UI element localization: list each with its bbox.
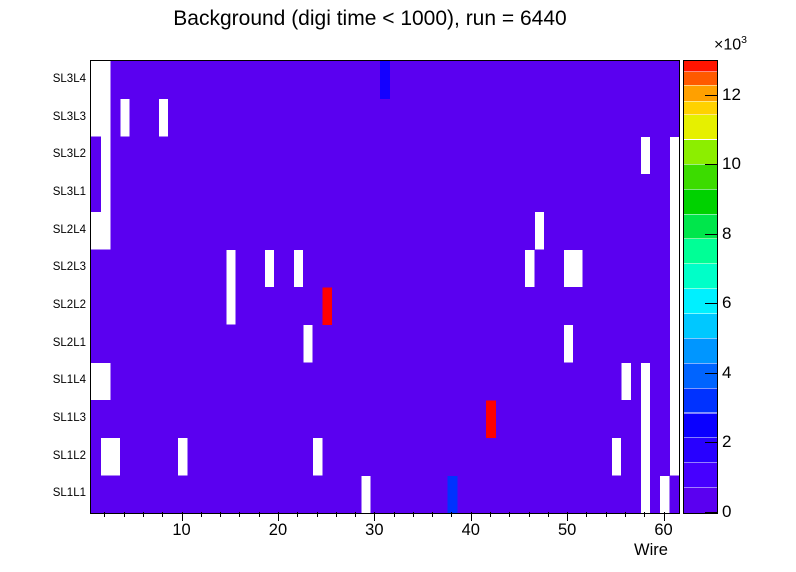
heatmap-cell (274, 212, 284, 250)
heatmap-cell (168, 249, 178, 287)
heatmap-cell (419, 249, 429, 287)
x-axis-minor-tick (201, 512, 202, 517)
heatmap-cell (640, 61, 650, 99)
heatmap-cell (284, 212, 294, 250)
heatmap-cell (650, 400, 660, 438)
heatmap-cell (467, 438, 477, 476)
heatmap-cell (390, 212, 400, 250)
palette-band (684, 239, 717, 263)
heatmap-cell (448, 287, 458, 325)
heatmap-cell (130, 362, 140, 400)
heatmap-cell (342, 174, 352, 212)
heatmap-cell (178, 174, 188, 212)
heatmap-cell (197, 362, 207, 400)
heatmap-cell (274, 99, 284, 137)
heatmap-cell (612, 249, 622, 287)
heatmap-cells[interactable] (91, 61, 679, 513)
heatmap-cell (631, 174, 641, 212)
heatmap-cell (245, 362, 255, 400)
heatmap-cell (650, 475, 660, 513)
heatmap-cell (390, 400, 400, 438)
heatmap-cell (197, 99, 207, 137)
heatmap-cell (448, 99, 458, 137)
heatmap-cell (110, 325, 120, 363)
heatmap-cell (496, 475, 506, 513)
heatmap-cell (602, 438, 612, 476)
heatmap-cell (602, 249, 612, 287)
heatmap-cell (187, 249, 197, 287)
x-axis-minor-tick (336, 512, 337, 517)
heatmap-cell (207, 99, 217, 137)
x-axis-tick (374, 512, 375, 521)
palette-band (684, 86, 717, 101)
heatmap-cell (168, 362, 178, 400)
heatmap-cell (486, 212, 496, 250)
heatmap-cell (650, 325, 660, 363)
y-axis-tick-label-sl1l1: SL1L1 (24, 487, 86, 499)
heatmap-cell (139, 438, 149, 476)
palette-band (684, 413, 717, 437)
heatmap-cell (371, 287, 381, 325)
heatmap-cell (660, 400, 670, 438)
palette-band (684, 264, 717, 288)
heatmap-cell (216, 287, 226, 325)
heatmap-cell (255, 325, 265, 363)
heatmap-cell (168, 475, 178, 513)
heatmap-cell (207, 174, 217, 212)
heatmap-cell (583, 61, 593, 99)
palette-tick (705, 164, 717, 165)
heatmap-cell (419, 174, 429, 212)
heatmap-cell (419, 61, 429, 99)
heatmap-cell (534, 99, 544, 137)
heatmap-cell (428, 325, 438, 363)
heatmap-cell (371, 475, 381, 513)
y-axis-tick-label-sl1l3: SL1L3 (24, 412, 86, 424)
heatmap-cell (583, 287, 593, 325)
heatmap-cell (457, 287, 467, 325)
x-axis-tick (567, 512, 568, 521)
heatmap-cell (573, 400, 583, 438)
heatmap-cell (534, 325, 544, 363)
heatmap-cell (255, 136, 265, 174)
heatmap-cell (409, 287, 419, 325)
heatmap-cell (650, 174, 660, 212)
heatmap-cell (265, 99, 275, 137)
heatmap-cell (207, 438, 217, 476)
heatmap-cell (149, 475, 159, 513)
heatmap-cell (120, 325, 130, 363)
heatmap-cell (669, 99, 679, 137)
heatmap-cell (592, 438, 602, 476)
heatmap-cell (631, 400, 641, 438)
heatmap-cell (592, 61, 602, 99)
heatmap-cell (438, 362, 448, 400)
x-axis-tick-label: 50 (558, 521, 576, 540)
heatmap-cell (216, 212, 226, 250)
heatmap-cell (342, 249, 352, 287)
heatmap-cell (448, 212, 458, 250)
heatmap-cell (207, 249, 217, 287)
heatmap-cell (158, 174, 168, 212)
heatmap-cell (583, 400, 593, 438)
heatmap-cell (399, 174, 409, 212)
heatmap-cell (245, 136, 255, 174)
heatmap-cell (322, 99, 332, 137)
heatmap-cell (602, 362, 612, 400)
heatmap-cell (544, 174, 554, 212)
heatmap-cell (592, 212, 602, 250)
heatmap-cell (380, 61, 390, 99)
heatmap-cell (438, 287, 448, 325)
heatmap-cell (428, 475, 438, 513)
heatmap-cell (505, 362, 515, 400)
heatmap-cell (284, 362, 294, 400)
heatmap-cell (139, 61, 149, 99)
heatmap-cell (515, 174, 525, 212)
heatmap-cell (477, 362, 487, 400)
heatmap-cell (457, 325, 467, 363)
heatmap-cell (390, 475, 400, 513)
heatmap-cell (419, 325, 429, 363)
palette-band (684, 388, 717, 412)
heatmap-cell (255, 249, 265, 287)
heatmap-cell (139, 475, 149, 513)
heatmap-cell (583, 475, 593, 513)
heatmap-cell (342, 325, 352, 363)
heatmap-cell (563, 362, 573, 400)
heatmap-cell (265, 174, 275, 212)
heatmap-cell (207, 287, 217, 325)
heatmap-cell (409, 400, 419, 438)
heatmap-cell (293, 61, 303, 99)
heatmap-cell (554, 212, 564, 250)
color-palette[interactable] (683, 60, 718, 514)
heatmap-cell (168, 61, 178, 99)
heatmap-cell (120, 362, 130, 400)
heatmap-cell (583, 362, 593, 400)
x-axis-minor-tick (355, 512, 356, 517)
heatmap-cell (303, 287, 313, 325)
heatmap-cell (158, 362, 168, 400)
heatmap-cell (226, 99, 236, 137)
heatmap-cell (207, 212, 217, 250)
heatmap-cell (313, 249, 323, 287)
palette-tick (705, 303, 717, 304)
heatmap-cell (332, 325, 342, 363)
y-axis-tick-label-sl2l4: SL2L4 (24, 224, 86, 236)
heatmap-cell (342, 400, 352, 438)
heatmap-cell (457, 174, 467, 212)
heatmap-cell (255, 475, 265, 513)
x-axis-minor-tick (162, 512, 163, 517)
heatmap-cell (197, 249, 207, 287)
heatmap-cell (207, 61, 217, 99)
heatmap-cell (265, 325, 275, 363)
heatmap-cell (197, 287, 207, 325)
heatmap-cell (583, 99, 593, 137)
x-axis-minor-tick (529, 512, 530, 517)
heatmap-cell (236, 61, 246, 99)
heatmap-cell (612, 362, 622, 400)
heatmap-cell (101, 400, 111, 438)
x-axis-minor-tick (220, 512, 221, 517)
heatmap-cell (486, 61, 496, 99)
heatmap-cell (477, 438, 487, 476)
heatmap-cell (612, 174, 622, 212)
heatmap-cell (284, 438, 294, 476)
heatmap-cell (525, 287, 535, 325)
heatmap-cell (477, 212, 487, 250)
heatmap-cell (139, 362, 149, 400)
heatmap-cell (544, 249, 554, 287)
heatmap-cell (216, 475, 226, 513)
heatmap-cell (592, 475, 602, 513)
heatmap-cell (110, 475, 120, 513)
heatmap-cell (91, 136, 101, 174)
heatmap-cell (284, 61, 294, 99)
heatmap-cell (554, 438, 564, 476)
heatmap-cell (332, 362, 342, 400)
heatmap-cell (255, 438, 265, 476)
heatmap-cell (187, 362, 197, 400)
heatmap-cell (660, 362, 670, 400)
x-axis-tick (664, 512, 665, 521)
heatmap-cell (563, 174, 573, 212)
heatmap-cell (332, 61, 342, 99)
heatmap-cell (602, 212, 612, 250)
heatmap-cell (110, 249, 120, 287)
heatmap-cell (583, 212, 593, 250)
heatmap-cell (91, 400, 101, 438)
heatmap-cell (621, 212, 631, 250)
palette-band (684, 214, 717, 238)
y-axis-tick-label-sl2l1: SL2L1 (24, 337, 86, 349)
heatmap-cell (505, 475, 515, 513)
heatmap-cell (342, 212, 352, 250)
heatmap-cell (554, 136, 564, 174)
heatmap-cell (390, 249, 400, 287)
heatmap-cell (303, 174, 313, 212)
heatmap-cell (274, 287, 284, 325)
heatmap-cell (505, 325, 515, 363)
heatmap-cell (409, 61, 419, 99)
heatmap-cell (563, 400, 573, 438)
heatmap-cell (544, 136, 554, 174)
palette-band (684, 140, 717, 164)
heatmap-cell (496, 174, 506, 212)
heatmap-cell (255, 99, 265, 137)
heatmap-cell (380, 362, 390, 400)
heatmap-cell (573, 174, 583, 212)
heatmap-cell (486, 438, 496, 476)
heatmap-cell (592, 136, 602, 174)
heatmap-cell (380, 212, 390, 250)
heatmap-cell (255, 362, 265, 400)
x-axis-minor-tick (104, 512, 105, 517)
heatmap-cell (313, 212, 323, 250)
heatmap-cell (245, 174, 255, 212)
heatmap-cell (419, 438, 429, 476)
heatmap-cell (563, 136, 573, 174)
heatmap-cell (178, 325, 188, 363)
heatmap-cell (342, 136, 352, 174)
heatmap-cell (139, 136, 149, 174)
heatmap-cell (120, 249, 130, 287)
heatmap-cell (390, 99, 400, 137)
heatmap-cell (592, 362, 602, 400)
y-axis-tick-label-sl3l4: SL3L4 (24, 73, 86, 85)
heatmap-cell (236, 475, 246, 513)
heatmap-cell (496, 249, 506, 287)
heatmap-cell (91, 438, 101, 476)
heatmap-cell (158, 212, 168, 250)
heatmap-cell (178, 400, 188, 438)
heatmap-cell (640, 212, 650, 250)
x-axis-tick-label: 30 (365, 521, 383, 540)
heatmap-cell (544, 475, 554, 513)
heatmap-cell (640, 287, 650, 325)
heatmap-cell (110, 362, 120, 400)
heatmap-cell (592, 287, 602, 325)
heatmap-cell (332, 475, 342, 513)
heatmap-cell (168, 212, 178, 250)
heatmap-cell (322, 362, 332, 400)
heatmap-cell (477, 400, 487, 438)
heatmap-cell (197, 136, 207, 174)
heatmap-cell (351, 400, 361, 438)
heatmap-cell (602, 475, 612, 513)
heatmap-cell (245, 61, 255, 99)
heatmap-cell (226, 61, 236, 99)
heatmap-cell (409, 475, 419, 513)
heatmap-cell (226, 174, 236, 212)
heatmap-cell (467, 249, 477, 287)
heatmap-cell (120, 287, 130, 325)
heatmap-cell (361, 99, 371, 137)
heatmap-cell (486, 475, 496, 513)
heatmap-cell (139, 400, 149, 438)
heatmap-cell (371, 61, 381, 99)
heatmap-cell (187, 325, 197, 363)
heatmap-cell (399, 212, 409, 250)
heatmap-cell (207, 136, 217, 174)
heatmap-cell (457, 136, 467, 174)
heatmap-cell (612, 61, 622, 99)
heatmap-cell (149, 99, 159, 137)
heatmap-cell (621, 136, 631, 174)
heatmap-cell (438, 99, 448, 137)
heatmap-cell (236, 400, 246, 438)
heatmap-cell (303, 362, 313, 400)
heatmap-cell (236, 287, 246, 325)
heatmap-cell (236, 325, 246, 363)
heatmap-cell (178, 212, 188, 250)
heatmap-cell (110, 400, 120, 438)
heatmap-cell (390, 362, 400, 400)
heatmap-cell (477, 174, 487, 212)
heatmap-cell (351, 362, 361, 400)
x-axis-minor-tick (394, 512, 395, 517)
heatmap-cell (255, 174, 265, 212)
heatmap-cell (477, 99, 487, 137)
heatmap-cell (631, 136, 641, 174)
heatmap-cell (409, 99, 419, 137)
heatmap-cell (448, 174, 458, 212)
heatmap-cell (284, 325, 294, 363)
heatmap-cell (197, 475, 207, 513)
palette-tick (705, 373, 717, 374)
heatmap-cell (428, 136, 438, 174)
heatmap-cell (158, 438, 168, 476)
heatmap-cell (284, 287, 294, 325)
heatmap-cell (351, 136, 361, 174)
heatmap-cell (390, 136, 400, 174)
heatmap-cell (631, 325, 641, 363)
heatmap-cell (650, 61, 660, 99)
y-axis-tick-label-sl3l2: SL3L2 (24, 148, 86, 160)
heatmap-cell (293, 174, 303, 212)
heatmap-cell (592, 174, 602, 212)
heatmap-cell (438, 400, 448, 438)
heatmap-cell (428, 99, 438, 137)
heatmap-cell (496, 325, 506, 363)
heatmap-cell (197, 174, 207, 212)
heatmap-cell (322, 136, 332, 174)
heatmap-cell (515, 287, 525, 325)
heatmap-cell (505, 61, 515, 99)
heatmap-cell (631, 61, 641, 99)
heatmap-cell (236, 136, 246, 174)
heatmap-cell (313, 136, 323, 174)
heatmap-cell (371, 325, 381, 363)
heatmap-cell (544, 99, 554, 137)
heatmap-cell (534, 287, 544, 325)
heatmap-cell (650, 287, 660, 325)
heatmap-cell (158, 287, 168, 325)
heatmap-cell (265, 475, 275, 513)
heatmap-cell (139, 287, 149, 325)
heatmap-cell (640, 174, 650, 212)
heatmap-cell (544, 438, 554, 476)
heatmap-cell (631, 438, 641, 476)
heatmap-cell (101, 287, 111, 325)
heatmap-cell (303, 212, 313, 250)
heatmap-cell (612, 325, 622, 363)
heatmap-cell (187, 438, 197, 476)
palette-tick-label: 12 (722, 85, 741, 105)
palette-tick-label: 4 (722, 363, 731, 383)
heatmap-cell (660, 249, 670, 287)
heatmap-cell (496, 400, 506, 438)
heatmap-cell (342, 99, 352, 137)
heatmap-cell (486, 99, 496, 137)
heatmap-plot-area[interactable] (90, 60, 680, 514)
heatmap-cell (168, 400, 178, 438)
heatmap-cell (130, 174, 140, 212)
heatmap-cell (525, 99, 535, 137)
heatmap-cell (351, 212, 361, 250)
heatmap-cell (274, 362, 284, 400)
heatmap-cell (178, 99, 188, 137)
heatmap-cell (380, 287, 390, 325)
heatmap-cell (554, 249, 564, 287)
heatmap-cell (293, 99, 303, 137)
heatmap-cell (187, 174, 197, 212)
heatmap-cell (554, 287, 564, 325)
palette-band (684, 72, 717, 85)
heatmap-cell (399, 325, 409, 363)
